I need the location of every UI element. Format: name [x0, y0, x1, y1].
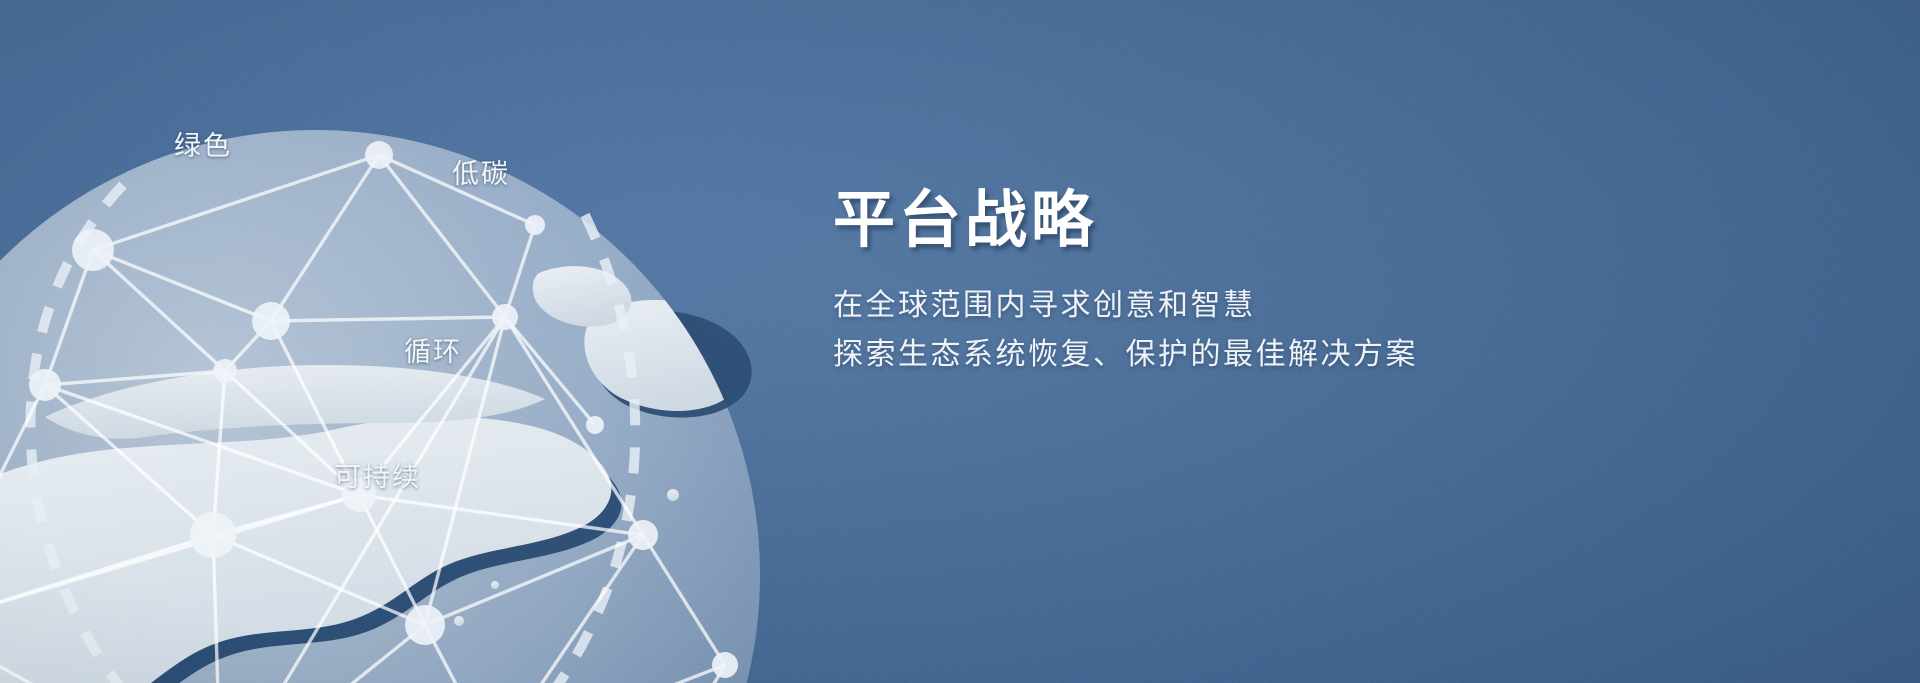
hero-banner: 绿色 低碳 循环 可持续 平台战略 在全球范围内寻求创意和智慧 探索生态系统恢复…: [0, 0, 1920, 683]
vignette-overlay: [0, 0, 1920, 683]
